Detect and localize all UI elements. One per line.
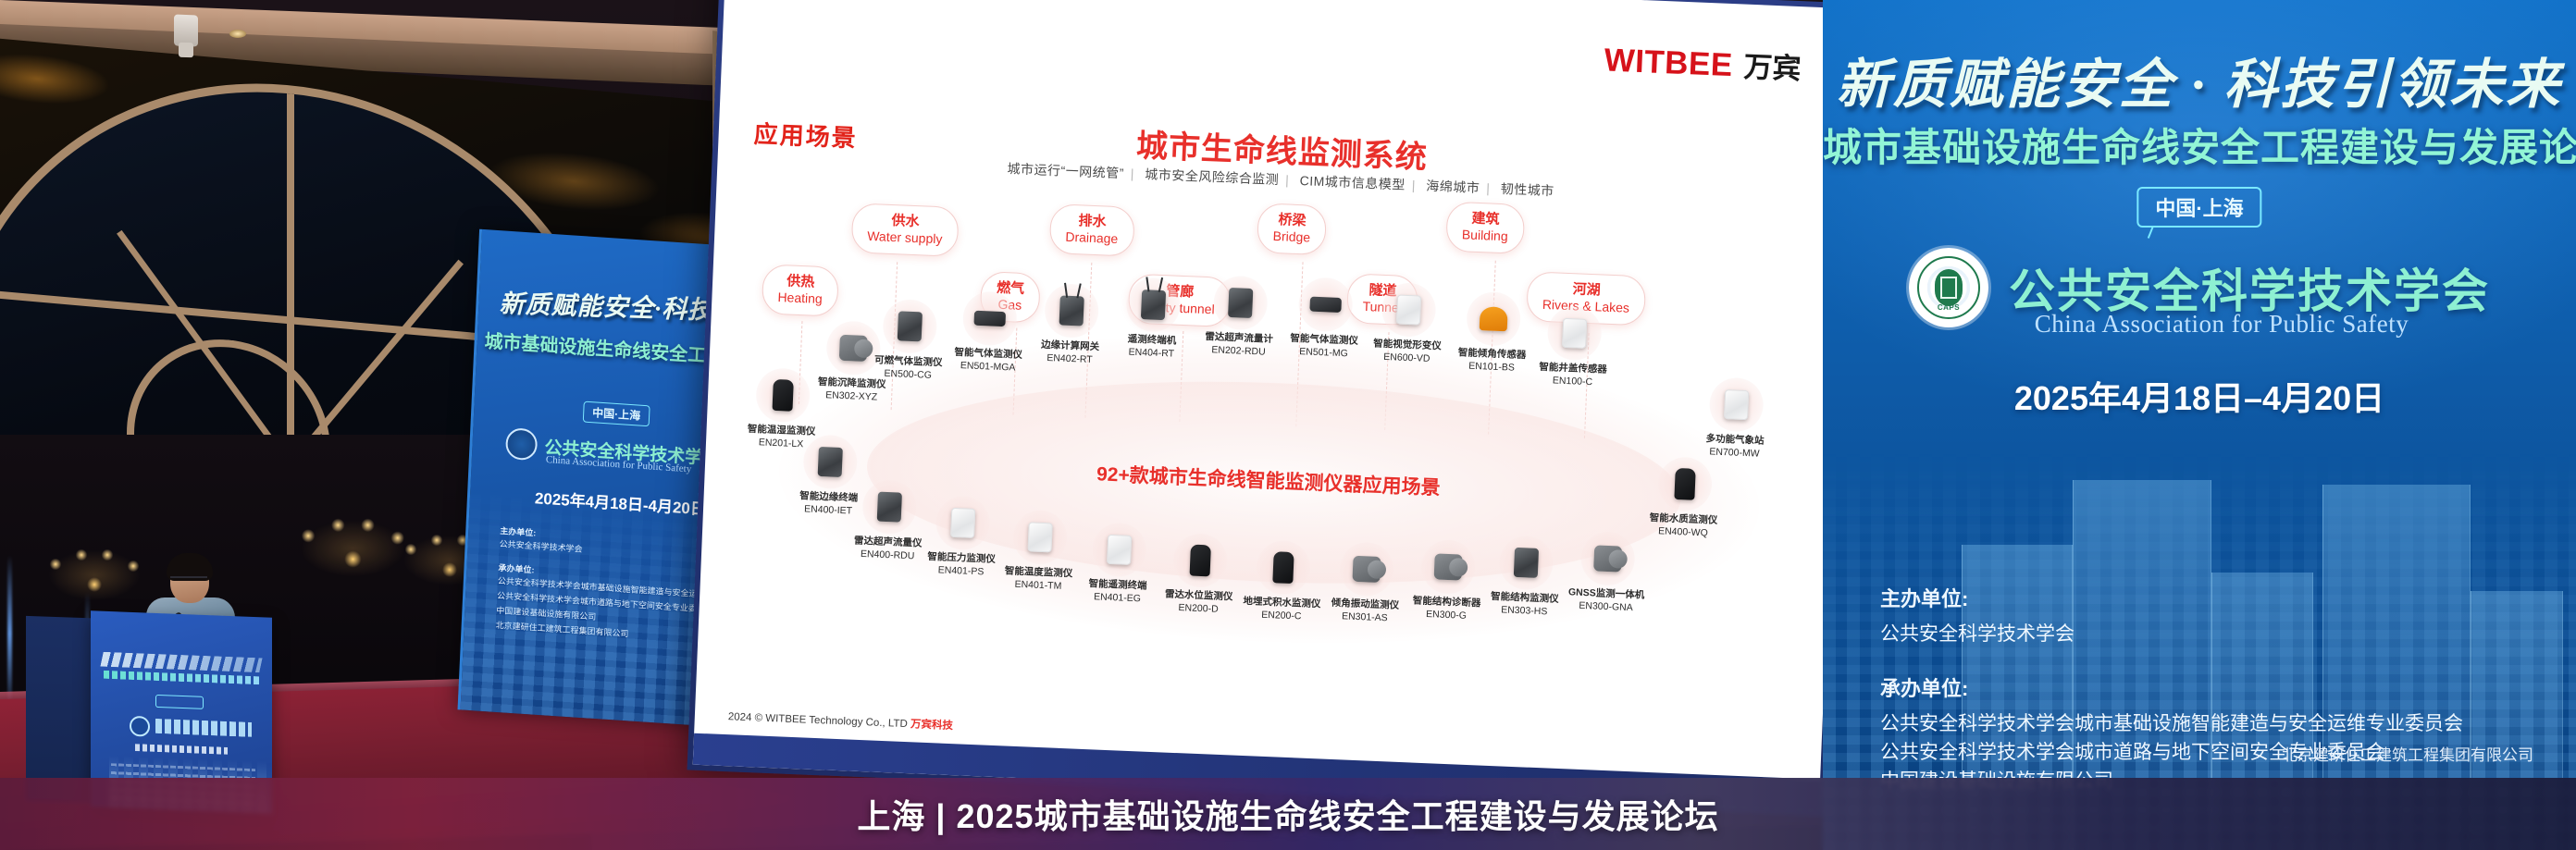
bubble-en: Drainage [1065,228,1118,246]
standee-dates: 2025年4月18日-4月20日 [534,485,706,519]
device-icon [1593,545,1622,572]
device-icon [898,311,923,341]
device-icon [1724,389,1749,420]
accent-light [7,555,12,712]
witbee-logo-en: WITBEE [1604,42,1734,84]
standee-host-label: 主办单位: [500,525,537,541]
copyright-en: 2024 © WITBEE Technology Co., LTD [728,711,908,730]
standee-location-chip: 中国·上海 [583,401,650,427]
slide-subtitle-part-4: 韧性城市 [1493,181,1561,199]
slide-copyright: 2024 © WITBEE Technology Co., LTD 万宾科技 [728,708,954,733]
banner-script-slogan: 新质赋能安全 · 科技引领未来 [1823,41,2576,118]
device-icon [1434,553,1463,580]
slide-subtitle-part-0: 城市运行“一网统管” [1000,161,1131,181]
banner-organization-en: China Association for Public Safety [2035,310,2409,339]
domain-bubble-heating: 供热 Heating [762,264,839,317]
device-icon [1309,297,1342,313]
slide-subtitle-part-1: 城市安全风险综合监测 [1138,166,1286,188]
witbee-logo-cn: 万宾 [1743,43,1802,88]
domain-bubble-building: 建筑 Building [1445,202,1525,255]
device-icon [1514,548,1539,578]
device-item: 智能井盖传感器EN100-C [1517,304,1630,390]
standee-coorganizer-4: 北京建研住工建筑工程集团有限公司 [495,620,628,641]
bubble-en: Water supply [867,228,943,247]
device-item: 多功能气象站EN700-MW [1679,376,1792,462]
device-icon [950,508,975,538]
banner-host-label: 主办单位: [1880,583,2463,612]
device-icon [877,492,902,523]
bubble-cn: 排水 [1066,213,1120,231]
seal-caption: CAPS [1911,303,1987,312]
domain-bubble-bridge: 桥梁 Bridge [1257,203,1328,255]
caption-bar: 上海 | 2025城市基础设施生命线安全工程建设与发展论坛 [0,778,2576,850]
device-item: GNSS监测一体机EN300-GNA [1551,530,1664,616]
device-icon [1562,318,1587,349]
banner-host-value: 公共安全科学技术学会 [1880,620,2463,648]
witbee-logo: WITBEE 万宾 [1604,37,1802,87]
banner-coorganizer-1: 公共安全科学技术学会城市基础设施智能建造与安全运维专业委员会 [1880,709,2463,738]
device-icon [772,379,793,412]
device-icon [1141,289,1166,320]
slide-subtitle-part-3: 海绵城市 [1419,178,1487,195]
device-icon [1027,522,1052,552]
caps-seal-icon: CAPS [1909,248,1988,327]
bubble-en: Building [1462,227,1508,244]
banner-forum-title: 城市基础设施生命线安全工程建设与发展论坛 [1823,117,2576,173]
device-icon [1107,535,1132,565]
device-icon [1352,556,1381,583]
device-icon [1059,296,1084,326]
standee-host-value: 公共安全科学技术学会 [499,538,582,557]
bubble-cn: 建筑 [1462,210,1509,228]
conference-photo-scene: 新质赋能安全·科技引领未来 城市基础设施生命线安全工程建设与发展论坛 中国·上海… [0,0,2576,850]
device-icon [1480,306,1508,331]
domain-bubble-water-supply: 供水 Water supply [851,203,960,257]
copyright-cn: 万宾科技 [910,719,953,732]
standee-coorganizer-2: 公共安全科学技术学会城市道路与地下空间安全专业委员会 [497,590,713,617]
bubble-en: Heating [777,289,823,306]
device-icon [1396,294,1421,325]
caps-seal-icon [505,427,538,461]
right-banner: 新质赋能安全 · 科技引领未来 城市基础设施生命线安全工程建设与发展论坛 中国·… [1823,0,2576,850]
device-icon [1272,551,1294,584]
banner-location-chip: 中国·上海 [2136,187,2261,228]
slide-subtitle-part-2: CIM城市信息模型 [1293,173,1412,192]
glasses-icon [170,576,207,584]
banner-coorganizer-label: 承办单位: [1880,672,2463,702]
bubble-cn: 桥梁 [1273,212,1311,229]
caption-text: 上海 | 2025城市基础设施生命线安全工程建设与发展论坛 [857,790,1718,838]
spotlight-fixture [174,15,198,47]
domain-bubble-drainage: 排水 Drainage [1049,203,1135,257]
bubble-en: Bridge [1272,228,1310,245]
podium-seal-icon [130,716,150,737]
device-icon [1228,288,1253,318]
device-icon [1190,545,1211,577]
downlight [229,30,246,38]
led-screen: WITBEE 万宾 应用场景 城市生命线监测系统 城市运行“一网统管”| 城市安… [687,0,1857,817]
banner-overflow-line: 北京建研住工建筑工程集团有限公司 [2282,742,2533,765]
device-icon [973,311,1006,326]
standee-coorganizer-3: 中国建设基础设施有限公司 [496,605,596,624]
banner-dates: 2025年4月18日–4月20日 [2014,372,2384,420]
standee-coorganizer-label: 承办单位: [498,562,535,578]
bubble-cn: 供热 [778,273,824,291]
presentation-slide: WITBEE 万宾 应用场景 城市生命线监测系统 城市运行“一网统管”| 城市安… [693,0,1852,811]
